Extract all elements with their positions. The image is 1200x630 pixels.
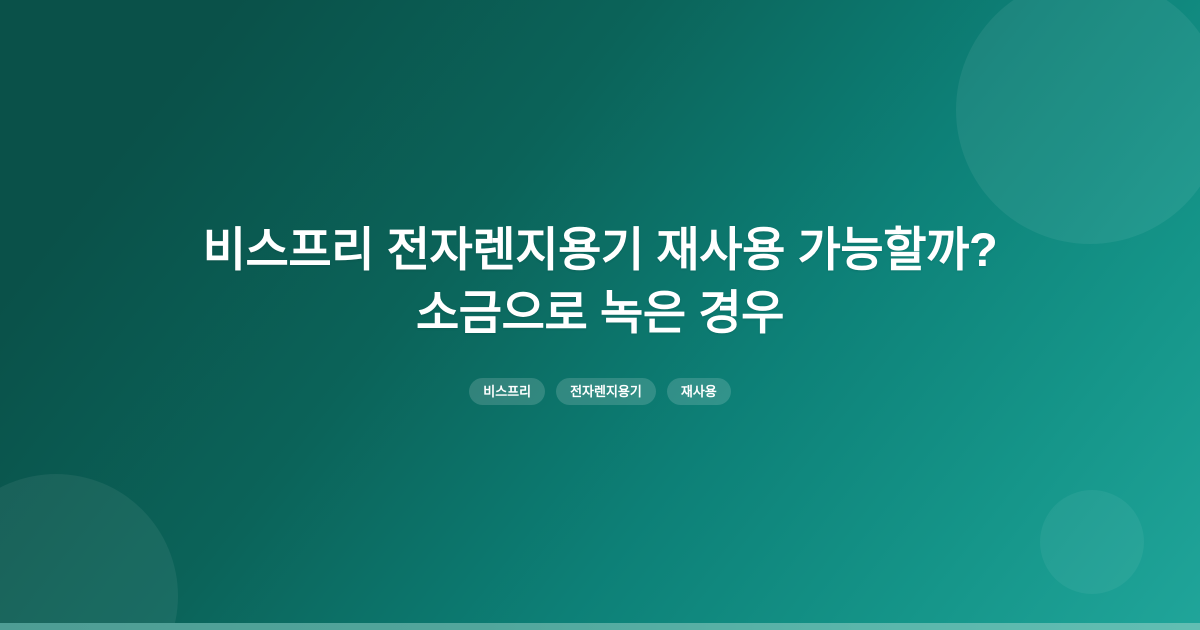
social-share-card: 비스프리 전자렌지용기 재사용 가능할까? 소금으로 녹은 경우 비스프리 전자… [0, 0, 1200, 630]
page-title: 비스프리 전자렌지용기 재사용 가능할까? 소금으로 녹은 경우 [90, 219, 1110, 345]
tag-chip-3[interactable]: 재사용 [667, 378, 731, 405]
bottom-accent-band [0, 623, 1200, 630]
card-content: 비스프리 전자렌지용기 재사용 가능할까? 소금으로 녹은 경우 비스프리 전자… [0, 0, 1200, 630]
tag-list: 비스프리 전자렌지용기 재사용 [469, 378, 731, 405]
tag-chip-2[interactable]: 전자렌지용기 [556, 378, 656, 405]
tag-chip-1[interactable]: 비스프리 [469, 378, 545, 405]
